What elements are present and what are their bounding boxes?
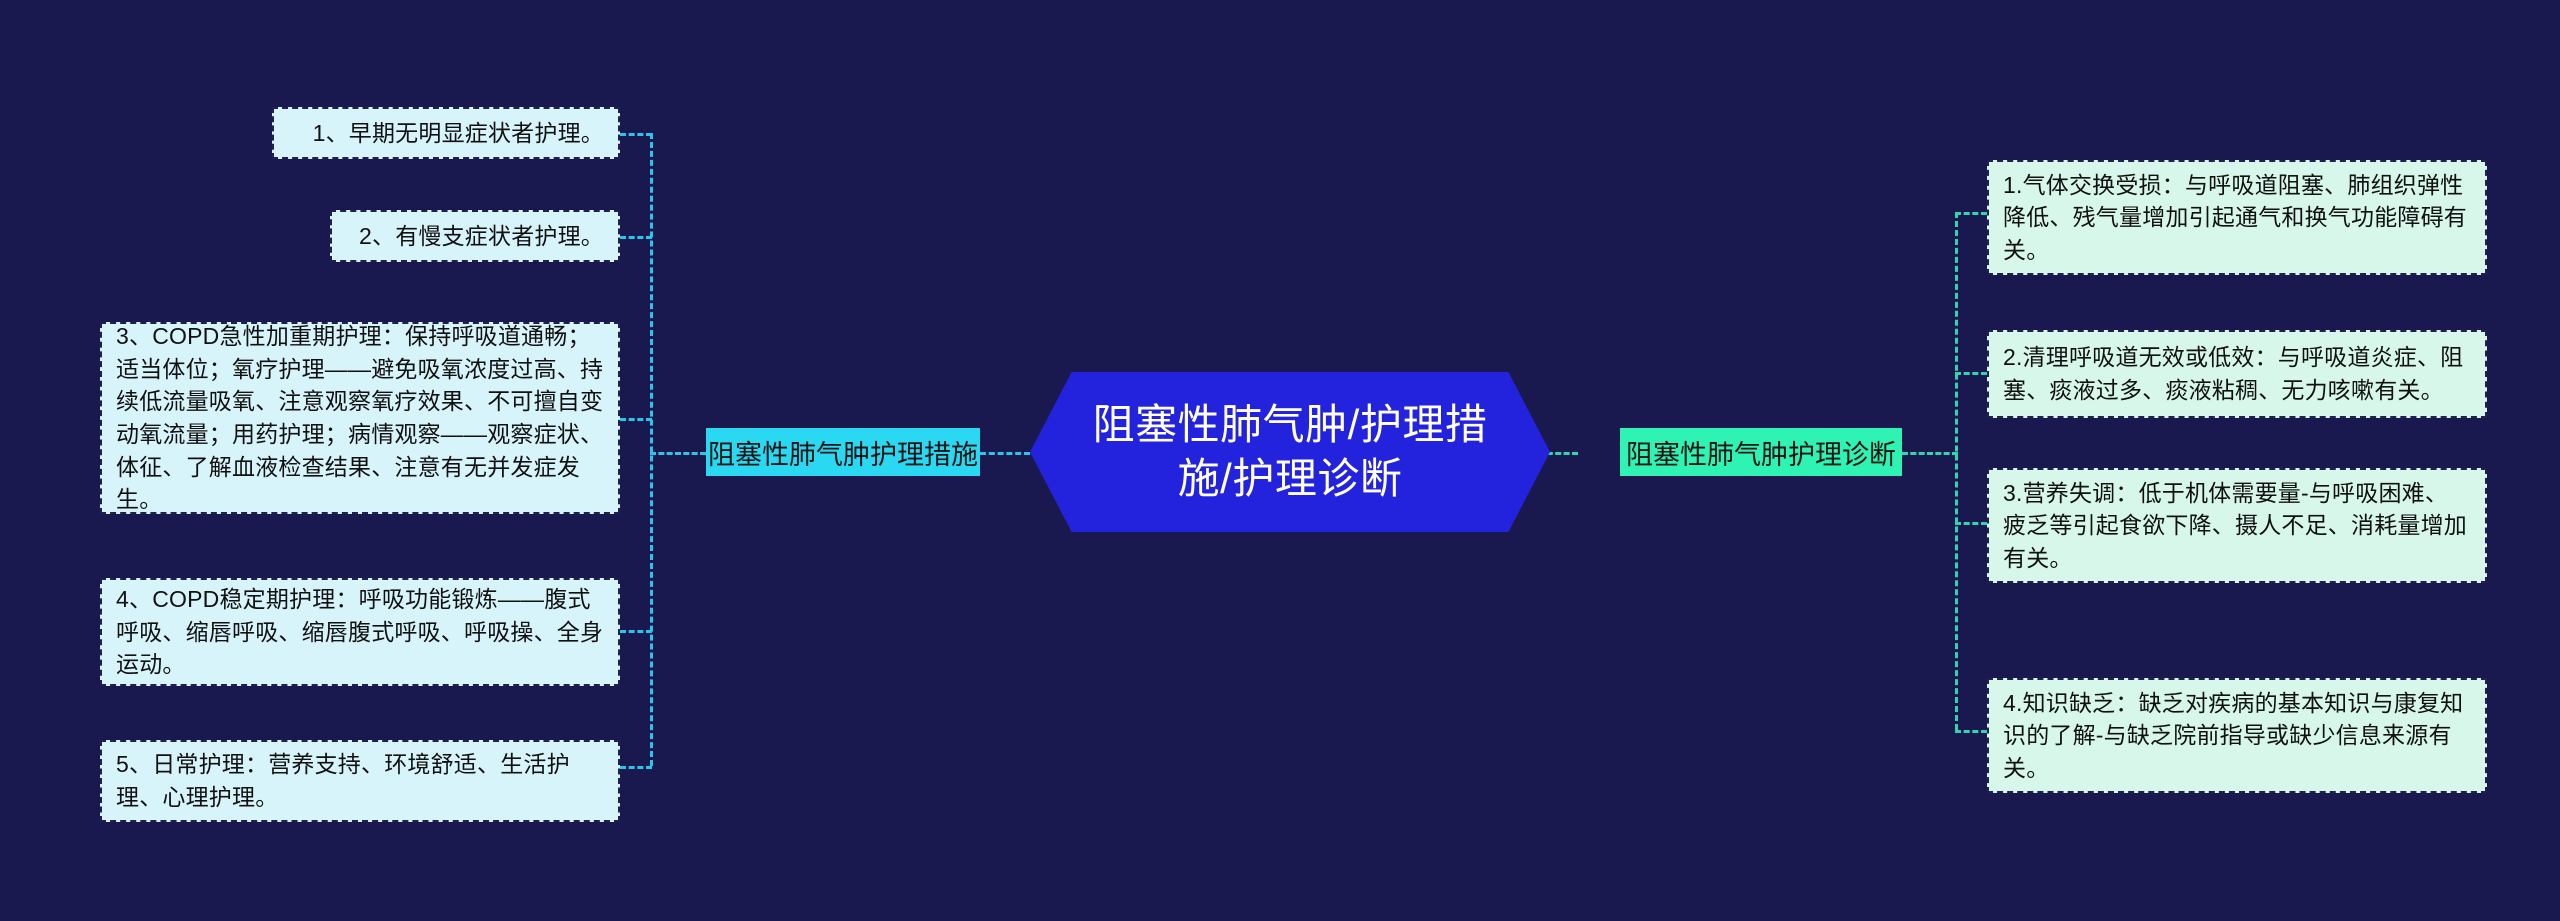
- center-node[interactable]: 阻塞性肺气肿/护理措施/护理诊断: [1030, 372, 1550, 532]
- left-branch-node[interactable]: 阻塞性肺气肿护理措施: [706, 428, 980, 476]
- right-leaf-4[interactable]: 4.知识缺乏：缺乏对疾病的基本知识与康复知识的了解-与缺乏院前指导或缺少信息来源…: [1987, 678, 2487, 793]
- left-trunk-vertical: [650, 133, 653, 766]
- right-leaf-1-text: 1.气体交换受损：与呼吸道阻塞、肺组织弹性降低、残气量增加引起通气和换气功能障碍…: [2003, 169, 2471, 267]
- left-leaf-1[interactable]: 1、早期无明显症状者护理。: [272, 107, 620, 159]
- left-trunk-to-branch: [650, 452, 706, 455]
- left-leaf-3-text: 3、COPD急性加重期护理：保持呼吸道通畅；适当体位；氧疗护理——避免吸氧浓度过…: [116, 320, 604, 516]
- left-connector-leaf-4: [620, 630, 652, 633]
- left-branch-label: 阻塞性肺气肿护理措施: [708, 433, 978, 472]
- left-connector-leaf-5: [620, 766, 652, 769]
- left-leaf-4-text: 4、COPD稳定期护理：呼吸功能锻炼——腹式呼吸、缩唇呼吸、缩唇腹式呼吸、呼吸操…: [116, 583, 604, 681]
- right-leaf-3-text: 3.营养失调：低于机体需要量-与呼吸困难、疲乏等引起食欲下降、摄人不足、消耗量增…: [2003, 477, 2471, 575]
- right-connector-leaf-4: [1955, 730, 1987, 733]
- right-connector-leaf-3: [1955, 522, 1987, 525]
- right-leaf-2[interactable]: 2.清理呼吸道无效或低效：与呼吸道炎症、阻塞、痰液过多、痰液粘稠、无力咳嗽有关。: [1987, 330, 2487, 418]
- left-leaf-1-text: 1、早期无明显症状者护理。: [288, 117, 604, 150]
- left-branch-to-center: [980, 452, 1030, 455]
- right-connector-leaf-2: [1955, 372, 1987, 375]
- left-leaf-5-text: 5、日常护理：营养支持、环境舒适、生活护理、心理护理。: [116, 748, 604, 813]
- right-leaf-2-text: 2.清理呼吸道无效或低效：与呼吸道炎症、阻塞、痰液过多、痰液粘稠、无力咳嗽有关。: [2003, 341, 2471, 406]
- left-leaf-4[interactable]: 4、COPD稳定期护理：呼吸功能锻炼——腹式呼吸、缩唇呼吸、缩唇腹式呼吸、呼吸操…: [100, 578, 620, 686]
- right-branch-label: 阻塞性肺气肿护理诊断: [1626, 433, 1896, 472]
- left-connector-leaf-1: [620, 133, 652, 136]
- right-leaf-3[interactable]: 3.营养失调：低于机体需要量-与呼吸困难、疲乏等引起食欲下降、摄人不足、消耗量增…: [1987, 468, 2487, 583]
- right-leaf-4-text: 4.知识缺乏：缺乏对疾病的基本知识与康复知识的了解-与缺乏院前指导或缺少信息来源…: [2003, 687, 2471, 785]
- right-trunk-to-branch: [1902, 452, 1958, 455]
- right-trunk-vertical: [1955, 212, 1958, 730]
- left-connector-leaf-2: [620, 236, 652, 239]
- left-leaf-2[interactable]: 2、有慢支症状者护理。: [330, 210, 620, 262]
- right-branch-node[interactable]: 阻塞性肺气肿护理诊断: [1620, 428, 1902, 476]
- right-connector-leaf-1: [1955, 212, 1987, 215]
- mindmap-canvas: 1、早期无明显症状者护理。 2、有慢支症状者护理。 3、COPD急性加重期护理：…: [0, 0, 2560, 921]
- left-connector-leaf-3: [620, 418, 652, 421]
- left-leaf-2-text: 2、有慢支症状者护理。: [346, 220, 604, 253]
- left-leaf-5[interactable]: 5、日常护理：营养支持、环境舒适、生活护理、心理护理。: [100, 740, 620, 822]
- center-node-title: 阻塞性肺气肿/护理措施/护理诊断: [1092, 398, 1487, 506]
- left-leaf-3[interactable]: 3、COPD急性加重期护理：保持呼吸道通畅；适当体位；氧疗护理——避免吸氧浓度过…: [100, 322, 620, 514]
- right-leaf-1[interactable]: 1.气体交换受损：与呼吸道阻塞、肺组织弹性降低、残气量增加引起通气和换气功能障碍…: [1987, 160, 2487, 275]
